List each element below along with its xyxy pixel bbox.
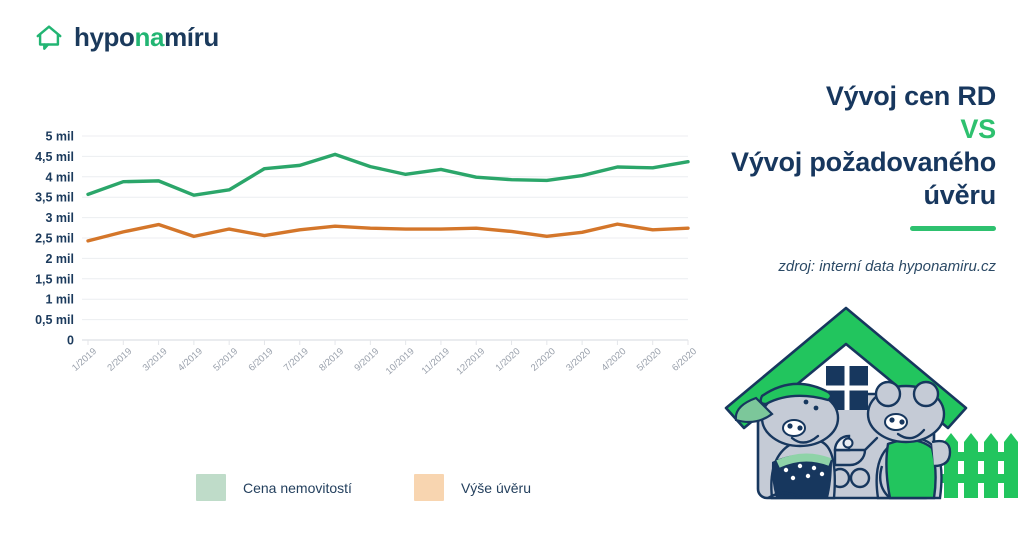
x-axis-tick-label: 4/2020 bbox=[599, 346, 628, 374]
legend-label: Výše úvěru bbox=[461, 480, 531, 496]
house-chat-icon bbox=[34, 22, 64, 52]
x-axis-tick-label: 7/2019 bbox=[282, 346, 311, 374]
chart-y-axis-labels: 5 mil4,5 mil4 mil3,5 mil3 mil2,5 mil2 mi… bbox=[35, 130, 74, 348]
y-axis-tick-label: 0,5 mil bbox=[35, 313, 74, 327]
y-axis-tick-label: 5 mil bbox=[46, 130, 75, 144]
x-axis-tick-label: 3/2019 bbox=[141, 346, 170, 374]
legend-swatch bbox=[414, 474, 444, 501]
x-axis-tick-label: 10/2019 bbox=[384, 346, 417, 377]
y-axis-tick-label: 4 mil bbox=[46, 170, 75, 184]
brand-text-hypo: hypo bbox=[74, 22, 135, 52]
y-axis-tick-label: 3,5 mil bbox=[35, 191, 74, 205]
legend-item[interactable]: Cena nemovitostí bbox=[196, 474, 352, 501]
x-axis-tick-label: 6/2020 bbox=[670, 346, 699, 374]
y-axis-tick-label: 4,5 mil bbox=[35, 150, 74, 164]
chart-gridlines bbox=[82, 136, 688, 340]
x-axis-tick-label: 1/2019 bbox=[70, 346, 99, 374]
x-axis-tick-label: 1/2020 bbox=[494, 346, 523, 374]
character-left bbox=[736, 384, 838, 498]
y-axis-tick-label: 0 bbox=[67, 334, 74, 348]
x-axis-tick-label: 5/2020 bbox=[635, 346, 664, 374]
headline-line-4: úvěru bbox=[656, 179, 996, 212]
chart-x-axis-labels: 1/20192/20193/20194/20195/20196/20197/20… bbox=[70, 346, 699, 377]
x-axis-tick-label: 6/2019 bbox=[247, 346, 276, 374]
headline-line-1: Vývoj cen RD bbox=[656, 80, 996, 113]
y-axis-tick-label: 2 mil bbox=[46, 252, 75, 266]
x-axis-tick-label: 8/2019 bbox=[317, 346, 346, 374]
chart-x-tickmarks bbox=[88, 340, 688, 345]
headline-underline-rule bbox=[910, 226, 996, 231]
headline-line-3: Vývoj požadovaného bbox=[656, 146, 996, 179]
headline-block: Vývoj cen RD VS Vývoj požadovaného úvěru bbox=[656, 80, 996, 231]
y-axis-tick-label: 1 mil bbox=[46, 293, 75, 307]
y-axis-tick-label: 3 mil bbox=[46, 211, 75, 225]
x-axis-tick-label: 3/2020 bbox=[564, 346, 593, 374]
series-line bbox=[88, 154, 688, 195]
y-axis-tick-label: 2,5 mil bbox=[35, 232, 74, 246]
brand-wordmark: hyponamíru bbox=[74, 24, 219, 50]
brand-logo[interactable]: hyponamíru bbox=[34, 22, 219, 52]
headline-vs: VS bbox=[656, 113, 996, 146]
x-axis-tick-label: 2/2020 bbox=[529, 346, 558, 374]
source-note: zdroj: interní data hyponamiru.cz bbox=[778, 258, 996, 275]
chart-canvas: 5 mil4,5 mil4 mil3,5 mil3 mil2,5 mil2 mi… bbox=[0, 118, 700, 428]
x-axis-tick-label: 2/2019 bbox=[105, 346, 134, 374]
y-axis-tick-label: 1,5 mil bbox=[35, 272, 74, 286]
brand-text-na: na bbox=[135, 22, 165, 52]
legend-label: Cena nemovitostí bbox=[243, 480, 352, 496]
x-axis-tick-label: 12/2019 bbox=[454, 346, 487, 377]
brand-text-miru: míru bbox=[164, 22, 219, 52]
chart-legend: Cena nemovitostíVýše úvěru bbox=[196, 474, 531, 501]
legend-swatch bbox=[196, 474, 226, 501]
x-axis-tick-label: 9/2019 bbox=[352, 346, 381, 374]
legend-item[interactable]: Výše úvěru bbox=[414, 474, 531, 501]
x-axis-tick-label: 4/2019 bbox=[176, 346, 205, 374]
family-house-illustration bbox=[720, 302, 1020, 542]
fence-icon bbox=[942, 433, 1018, 498]
x-axis-tick-label: 5/2019 bbox=[211, 346, 240, 374]
x-axis-tick-label: 11/2019 bbox=[420, 346, 452, 377]
line-chart: 5 mil4,5 mil4 mil3,5 mil3 mil2,5 mil2 mi… bbox=[0, 118, 700, 428]
